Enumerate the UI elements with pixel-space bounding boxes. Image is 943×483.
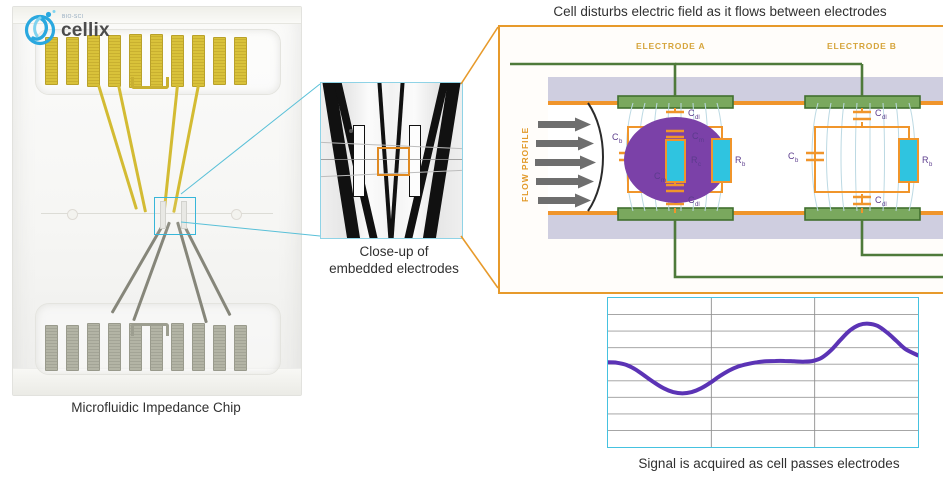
electrode-b-top	[805, 96, 920, 108]
label-rb-b: R	[922, 155, 929, 165]
flow-profile-label: FLOW PROFILE	[520, 127, 530, 202]
plot-horizontal-gridlines	[608, 315, 918, 431]
resistor-rc	[666, 140, 685, 182]
electrode-a-top	[618, 96, 733, 108]
label-cdl-bottom-a-sub: dl	[695, 202, 700, 208]
label-cdl-top-b: C	[875, 108, 882, 118]
label-cdl-bottom-b-sub: dl	[882, 202, 887, 208]
circuit-svg: FLOW PROFILE	[500, 27, 943, 292]
label-cm-bottom-a-sub: m	[661, 178, 666, 184]
label-cdl-bottom-b: C	[875, 195, 882, 205]
signal-plot	[607, 297, 919, 448]
label-cdl-top-b-sub: dl	[882, 115, 887, 121]
signal-plot-svg	[608, 298, 918, 447]
label-rb-a: R	[735, 155, 742, 165]
electrode-b-heading: ELECTRODE B	[827, 41, 897, 51]
label-cm-top-a: C	[692, 131, 699, 141]
label-cb-b: C	[788, 151, 795, 161]
label-rc: R	[691, 155, 698, 165]
resistor-rb-b	[899, 139, 918, 182]
label-rc-sub: c	[698, 162, 701, 168]
label-cb-a: C	[612, 132, 619, 142]
signal-trace	[608, 324, 918, 394]
label-cm-bottom-a: C	[654, 171, 661, 181]
signal-caption: Signal is acquired as cell passes electr…	[596, 455, 942, 472]
electrode-a-heading: ELECTRODE A	[636, 41, 705, 51]
top-banner-caption: Cell disturbs electric field as it flows…	[500, 3, 940, 20]
label-cdl-top-a-sub: dl	[695, 115, 700, 121]
label-cdl-bottom-a: C	[688, 195, 695, 205]
resistor-rb-a	[712, 139, 731, 182]
label-cm-top-a-sub: m	[699, 138, 704, 144]
equivalent-circuit-diagram: FLOW PROFILE	[498, 25, 943, 294]
label-cdl-top-a: C	[688, 108, 695, 118]
